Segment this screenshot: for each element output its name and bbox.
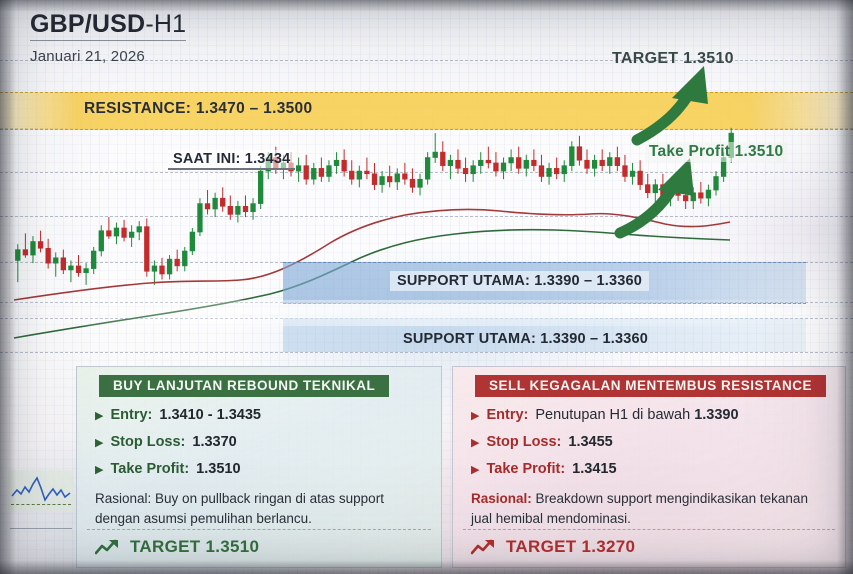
buy-stoploss-value: 1.3370 — [192, 434, 236, 450]
buy-entry-label: Entry: — [110, 407, 152, 423]
timeframe-label: -H1 — [145, 10, 186, 38]
sell-stoploss-label: Stop Loss: — [486, 434, 561, 450]
sell-card-rows: ▶ Entry: Penutupan H1 di bawah 1.3390 ▶ … — [471, 407, 739, 488]
triangle-right-icon: ▶ — [95, 465, 103, 476]
trend-up-arrow-icon — [95, 539, 121, 555]
buy-card-separator — [87, 529, 431, 530]
buy-entry-value: 1.3410 - 1.3435 — [159, 407, 261, 423]
sell-entry-value-price: 1.3390 — [694, 407, 738, 423]
sell-card-header: SELL KEGAGALAN MENTEMBUS RESISTANCE — [475, 375, 826, 397]
sell-target-label: TARGET 1.3270 — [506, 537, 635, 557]
sell-entry-value-text: Penutupan H1 di bawah — [535, 407, 694, 423]
support-label-primary: SUPPORT UTAMA: 1.3390 – 1.3360 — [390, 271, 649, 291]
mini-chart-thumbnail — [8, 470, 74, 512]
buy-setup-card: BUY LANJUTAN REBOUND TEKNIKAL ▶ Entry: 1… — [76, 366, 442, 568]
buy-takeprofit-label: Take Profit: — [110, 461, 189, 477]
sell-takeprofit-value: 1.3415 — [572, 461, 616, 477]
support-label-secondary: SUPPORT UTAMA: 1.3390 – 1.3360 — [396, 329, 655, 349]
triangle-right-icon: ▶ — [471, 438, 479, 449]
buy-stoploss-label: Stop Loss: — [110, 434, 185, 450]
buy-card-rows: ▶ Entry: 1.3410 - 1.3435 ▶ Stop Loss: 1.… — [95, 407, 261, 488]
buy-rationale-label: Rasional: — [95, 491, 151, 506]
triangle-right-icon: ▶ — [95, 438, 103, 449]
sell-card-separator — [463, 529, 835, 530]
forex-analysis-infographic: GBP/USD-H1 Januari 21, 2026 RESISTANCE: … — [0, 0, 853, 574]
sell-stoploss-row: ▶ Stop Loss: 1.3455 — [471, 434, 739, 450]
buy-takeprofit-row: ▶ Take Profit: 1.3510 — [95, 461, 261, 477]
buy-target-row: TARGET 1.3510 — [95, 537, 259, 557]
date-label: Januari 21, 2026 — [30, 48, 186, 65]
buy-rationale: Rasional: Buy on pullback ringan di atas… — [95, 489, 427, 528]
mini-chart-baseline — [11, 504, 71, 505]
buy-takeprofit-value: 1.3510 — [196, 461, 240, 477]
buy-target-label: TARGET 1.3510 — [130, 537, 259, 557]
sell-takeprofit-label: Take Profit: — [486, 461, 565, 477]
buy-card-header: BUY LANJUTAN REBOUND TEKNIKAL — [99, 375, 389, 397]
page-title: GBP/USD-H1 — [30, 10, 186, 41]
chart-header: GBP/USD-H1 Januari 21, 2026 — [30, 10, 186, 65]
trend-up-arrow-icon — [471, 539, 497, 555]
buy-stoploss-row: ▶ Stop Loss: 1.3370 — [95, 434, 261, 450]
triangle-right-icon: ▶ — [471, 411, 479, 422]
sell-setup-card: SELL KEGAGALAN MENTEMBUS RESISTANCE ▶ En… — [452, 366, 846, 568]
sell-takeprofit-row: ▶ Take Profit: 1.3415 — [471, 461, 739, 477]
sell-entry-row: ▶ Entry: Penutupan H1 di bawah 1.3390 — [471, 407, 739, 423]
take-profit-annotation: Take Profit 1.3510 — [645, 142, 787, 162]
sell-entry-label: Entry: — [486, 407, 528, 423]
triangle-right-icon: ▶ — [95, 411, 103, 422]
triangle-right-icon: ▶ — [471, 465, 479, 476]
sell-rationale: Rasional: Breakdown support mengindikasi… — [471, 489, 831, 528]
sell-entry-value: Penutupan H1 di bawah 1.3390 — [535, 407, 738, 423]
thumbnail-rule — [10, 528, 72, 529]
pair-label: GBP/USD — [30, 10, 145, 38]
buy-entry-row: ▶ Entry: 1.3410 - 1.3435 — [95, 407, 261, 423]
target-annotation: TARGET 1.3510 — [612, 50, 734, 68]
sell-rationale-label: Rasional: — [471, 491, 532, 506]
sell-target-row: TARGET 1.3270 — [471, 537, 635, 557]
current-price-label: SAAT INI: 1.3434 — [168, 150, 295, 170]
mini-line-chart — [8, 470, 74, 512]
sell-stoploss-value: 1.3455 — [568, 434, 612, 450]
resistance-label: RESISTANCE: 1.3470 – 1.3500 — [84, 100, 312, 118]
